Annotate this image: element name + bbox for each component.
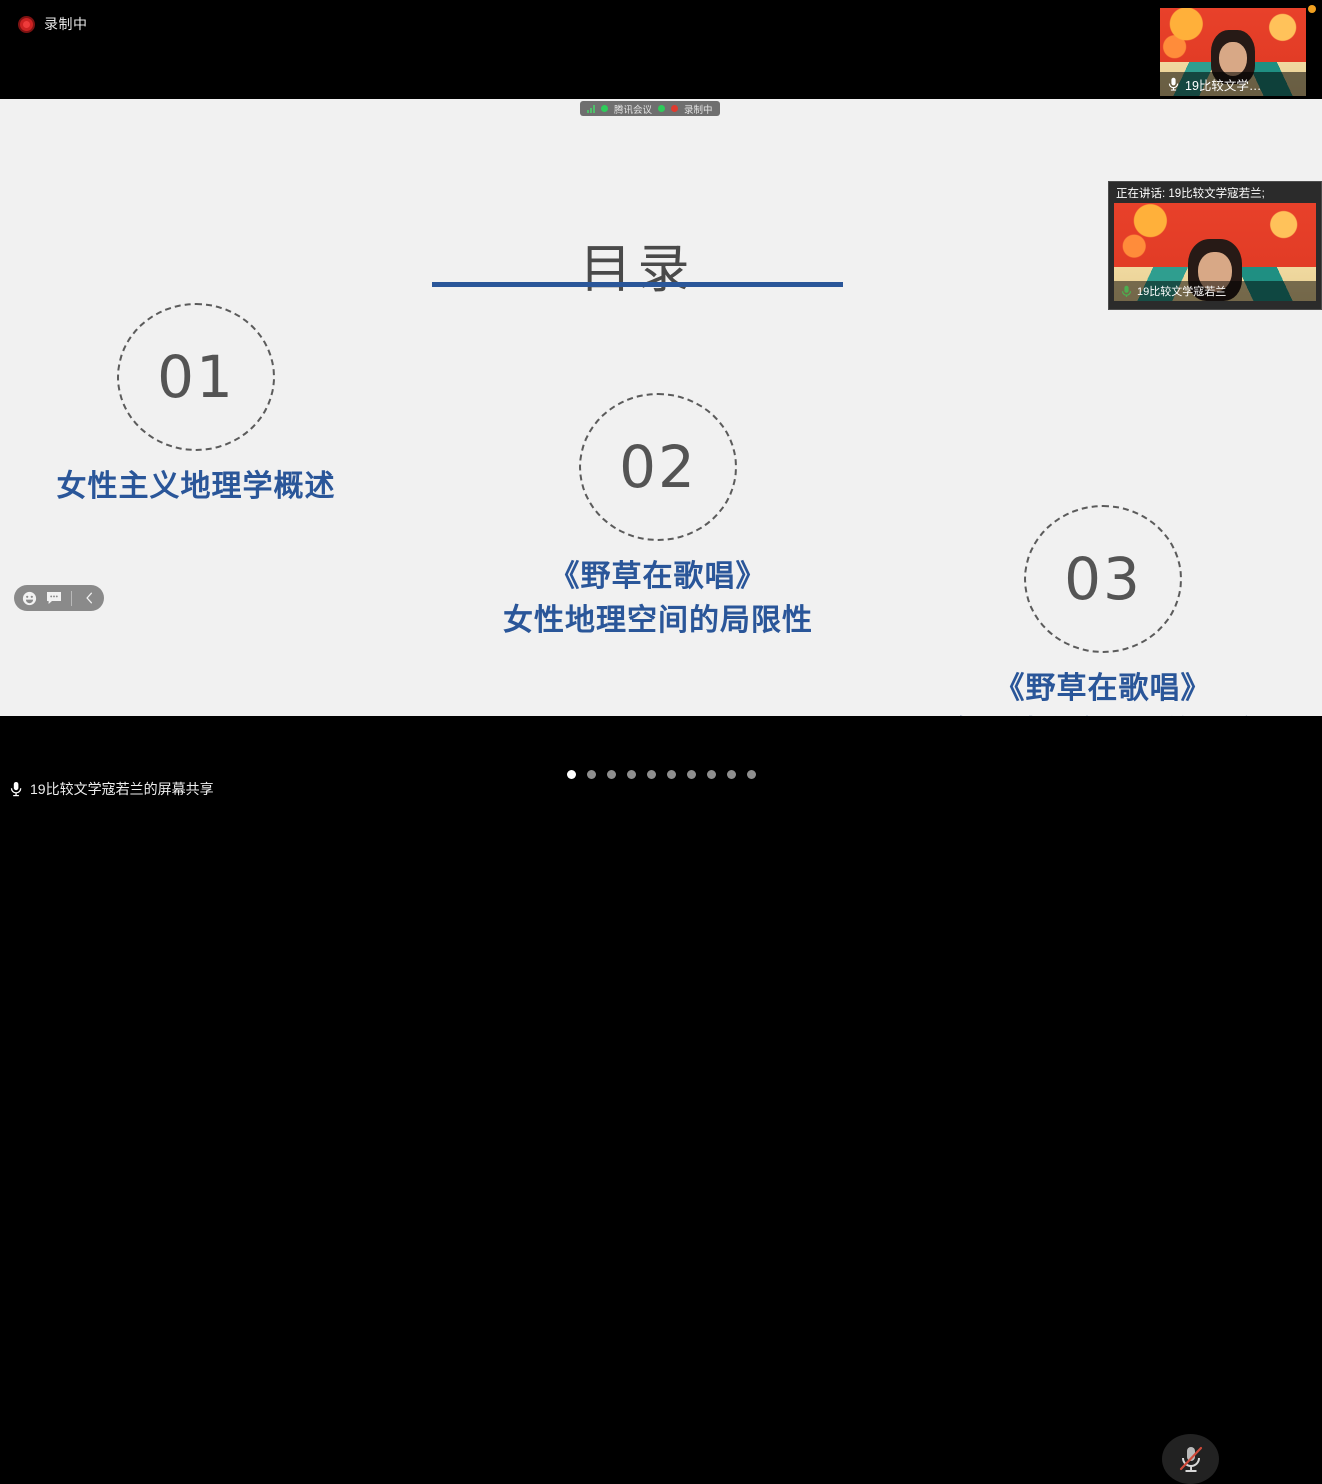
page-dot-4[interactable] bbox=[627, 770, 636, 779]
agenda-circle-01: 01 bbox=[117, 303, 275, 451]
share-dot-icon bbox=[658, 105, 665, 112]
page-dot-7[interactable] bbox=[687, 770, 696, 779]
agenda-label-01-line-1: 女性主义地理学概述 bbox=[36, 465, 356, 509]
self-video-name: 19比较文学… bbox=[1185, 75, 1261, 94]
agenda-label-01: 女性主义地理学概述 bbox=[36, 465, 356, 509]
bottom-bar: 19比较文学寇若兰的屏幕共享 bbox=[0, 716, 1322, 803]
meeting-window: 录制中 19比较文学… bbox=[0, 0, 1322, 803]
page-dot-8[interactable] bbox=[707, 770, 716, 779]
active-speaker-panel[interactable]: 正在讲话: 19比较文学寇若兰; 19比较文学寇若兰 bbox=[1108, 181, 1322, 310]
speaker-name-bar: 19比较文学寇若兰 bbox=[1114, 281, 1316, 301]
agenda-number-01: 01 bbox=[157, 343, 235, 411]
title-underline bbox=[432, 282, 843, 287]
page-dot-9[interactable] bbox=[727, 770, 736, 779]
agenda-circle-02: 02 bbox=[579, 393, 737, 541]
screen-share-status: 19比较文学寇若兰的屏幕共享 bbox=[10, 779, 214, 799]
agenda-label-03-line-1: 《野草在歌唱》 bbox=[908, 667, 1298, 711]
connection-dot-icon bbox=[601, 105, 608, 112]
page-dot-3[interactable] bbox=[607, 770, 616, 779]
toolbar-divider bbox=[71, 591, 72, 606]
page-title: 目录 bbox=[0, 227, 1275, 302]
agenda-label-02: 《野草在歌唱》 女性地理空间的局限性 bbox=[465, 555, 851, 642]
agenda-item-01: 01 女性主义地理学概述 bbox=[36, 303, 356, 509]
microphone-icon bbox=[1168, 77, 1179, 91]
microphone-muted-icon bbox=[1176, 1443, 1206, 1475]
screen-share-status-text: 19比较文学寇若兰的屏幕共享 bbox=[30, 779, 214, 799]
speaker-video: 19比较文学寇若兰 bbox=[1114, 203, 1316, 301]
speaker-name: 19比较文学寇若兰 bbox=[1137, 283, 1226, 299]
page-dot-5[interactable] bbox=[647, 770, 656, 779]
float-bar-recording-label: 录制中 bbox=[684, 102, 713, 116]
record-dot-icon bbox=[18, 16, 35, 33]
agenda-item-02: 02 《野草在歌唱》 女性地理空间的局限性 bbox=[465, 393, 851, 642]
meeting-float-bar[interactable]: 腾讯会议 录制中 bbox=[580, 101, 720, 116]
recording-indicator: 录制中 bbox=[18, 14, 88, 34]
recording-label: 录制中 bbox=[44, 14, 88, 34]
signal-bars-icon bbox=[587, 105, 595, 113]
status-dot-icon bbox=[1308, 5, 1316, 13]
agenda-label-02-line-1: 《野草在歌唱》 bbox=[465, 555, 851, 599]
page-dot-10[interactable] bbox=[747, 770, 756, 779]
page-dot-1[interactable] bbox=[567, 770, 576, 779]
meeting-app-name: 腾讯会议 bbox=[614, 102, 652, 116]
agenda-label-02-line-2: 女性地理空间的局限性 bbox=[465, 599, 851, 643]
page-dot-6[interactable] bbox=[667, 770, 676, 779]
chevron-left-icon[interactable] bbox=[78, 588, 100, 608]
self-video-thumbnail[interactable]: 19比较文学… bbox=[1160, 8, 1306, 96]
slide-pagination[interactable] bbox=[0, 770, 1322, 779]
speaking-now-label: 正在讲话: 19比较文学寇若兰; bbox=[1109, 182, 1321, 203]
agenda-circle-03: 03 bbox=[1024, 505, 1182, 653]
microphone-icon bbox=[10, 781, 22, 797]
top-bar: 录制中 19比较文学… bbox=[0, 0, 1322, 99]
annotation-icon[interactable] bbox=[43, 588, 65, 608]
microphone-active-icon bbox=[1121, 285, 1132, 298]
agenda-number-02: 02 bbox=[619, 433, 697, 501]
page-dot-2[interactable] bbox=[587, 770, 596, 779]
agenda-number-03: 03 bbox=[1064, 545, 1142, 613]
emoji-icon[interactable] bbox=[18, 588, 40, 608]
share-mini-toolbar[interactable] bbox=[14, 585, 104, 611]
self-video-label-bar: 19比较文学… bbox=[1160, 72, 1306, 96]
mute-toggle-button[interactable] bbox=[1162, 1434, 1219, 1484]
record-dot-icon-small bbox=[671, 105, 678, 112]
